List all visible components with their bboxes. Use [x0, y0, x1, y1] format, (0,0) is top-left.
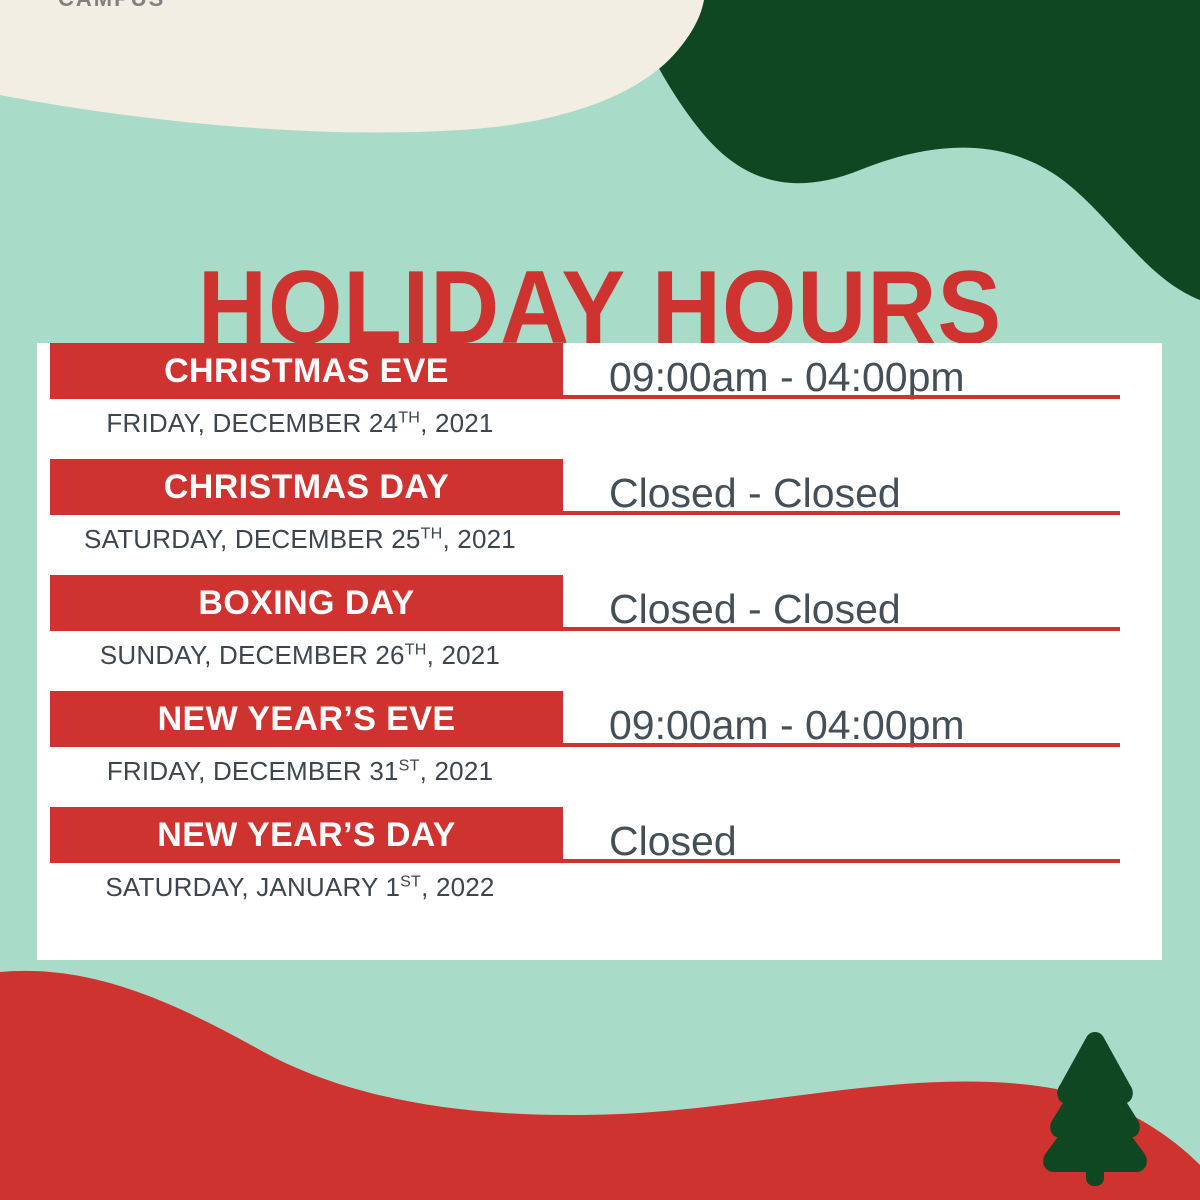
holiday-date-prefix: SATURDAY, DECEMBER 25	[84, 524, 421, 554]
holiday-date-ordinal: TH	[405, 640, 427, 658]
schedule-row-top: NEW YEAR’S EVE09:00am - 04:00pm	[37, 691, 1162, 747]
holiday-date-suffix: , 2021	[420, 408, 494, 438]
holiday-date-suffix: , 2021	[427, 640, 501, 670]
holiday-name: NEW YEAR’S EVE	[158, 702, 456, 736]
holiday-name-band: NEW YEAR’S EVE	[50, 691, 563, 747]
holiday-hours: Closed	[609, 819, 737, 863]
schedule-row-top: BOXING DAYClosed - Closed	[37, 575, 1162, 631]
holiday-date-prefix: SUNDAY, DECEMBER 26	[100, 640, 405, 670]
holiday-name-band: CHRISTMAS DAY	[50, 459, 563, 515]
schedule-card: CHRISTMAS EVE09:00am - 04:00pmFRIDAY, DE…	[37, 343, 1162, 960]
holiday-date-ordinal: TH	[398, 408, 420, 426]
schedule-row: NEW YEAR’S EVE09:00am - 04:00pmFRIDAY, D…	[37, 691, 1162, 807]
holiday-hours-cell: Closed - Closed	[563, 459, 1162, 515]
holiday-date-line: FRIDAY, DECEMBER 24TH, 2021	[37, 408, 550, 439]
holiday-date-ordinal: TH	[421, 524, 443, 542]
holiday-date-suffix: , 2022	[421, 872, 495, 902]
holiday-name: NEW YEAR’S DAY	[157, 818, 455, 852]
holiday-hours: 09:00am - 04:00pm	[609, 703, 965, 747]
holiday-hours-cell: 09:00am - 04:00pm	[563, 343, 1162, 399]
schedule-row-top: NEW YEAR’S DAYClosed	[37, 807, 1162, 863]
holiday-hours: Closed - Closed	[609, 471, 901, 515]
holiday-date-line: SATURDAY, DECEMBER 25TH, 2021	[37, 524, 550, 555]
holiday-date-suffix: , 2021	[420, 756, 494, 786]
holiday-date-line: FRIDAY, DECEMBER 31ST, 2021	[37, 756, 550, 787]
schedule-row-top: CHRISTMAS EVE09:00am - 04:00pm	[37, 343, 1162, 399]
schedule-row: BOXING DAYClosed - ClosedSUNDAY, DECEMBE…	[37, 575, 1162, 691]
holiday-hours: Closed - Closed	[609, 587, 901, 631]
holiday-name: BOXING DAY	[198, 586, 414, 620]
christmas-tree-icon	[1036, 1027, 1154, 1192]
holiday-date-ordinal: ST	[399, 756, 420, 774]
holiday-hours-cell: 09:00am - 04:00pm	[563, 691, 1162, 747]
holiday-date-prefix: SATURDAY, JANUARY 1	[105, 872, 400, 902]
holiday-date-prefix: FRIDAY, DECEMBER 24	[106, 408, 398, 438]
holiday-date: SUNDAY, DECEMBER 26TH, 2021	[100, 640, 500, 670]
holiday-date: SATURDAY, JANUARY 1ST, 2022	[105, 872, 494, 902]
schedule-rows: CHRISTMAS EVE09:00am - 04:00pmFRIDAY, DE…	[37, 343, 1162, 923]
holiday-date-ordinal: ST	[400, 872, 421, 890]
holiday-hours-poster: CAMPUS HOLIDAY HOURS CHRISTMAS EVE09:00a…	[0, 0, 1200, 1200]
holiday-date-prefix: FRIDAY, DECEMBER 31	[107, 756, 399, 786]
top-clipped-text: CAMPUS	[58, 0, 165, 12]
holiday-hours: 09:00am - 04:00pm	[609, 355, 965, 399]
holiday-date: SATURDAY, DECEMBER 25TH, 2021	[84, 524, 516, 554]
holiday-date-line: SUNDAY, DECEMBER 26TH, 2021	[37, 640, 550, 671]
holiday-name: CHRISTMAS EVE	[164, 354, 449, 388]
holiday-hours-cell: Closed - Closed	[563, 575, 1162, 631]
holiday-name-band: BOXING DAY	[50, 575, 563, 631]
holiday-name: CHRISTMAS DAY	[164, 470, 449, 504]
schedule-row-top: CHRISTMAS DAYClosed - Closed	[37, 459, 1162, 515]
schedule-row: NEW YEAR’S DAYClosedSATURDAY, JANUARY 1S…	[37, 807, 1162, 923]
schedule-row: CHRISTMAS EVE09:00am - 04:00pmFRIDAY, DE…	[37, 343, 1162, 459]
schedule-row: CHRISTMAS DAYClosed - ClosedSATURDAY, DE…	[37, 459, 1162, 575]
holiday-name-band: CHRISTMAS EVE	[50, 343, 563, 399]
holiday-date-suffix: , 2021	[442, 524, 516, 554]
holiday-date: FRIDAY, DECEMBER 31ST, 2021	[107, 756, 493, 786]
holiday-hours-cell: Closed	[563, 807, 1162, 863]
holiday-date-line: SATURDAY, JANUARY 1ST, 2022	[37, 872, 550, 903]
holiday-name-band: NEW YEAR’S DAY	[50, 807, 563, 863]
holiday-date: FRIDAY, DECEMBER 24TH, 2021	[106, 408, 493, 438]
